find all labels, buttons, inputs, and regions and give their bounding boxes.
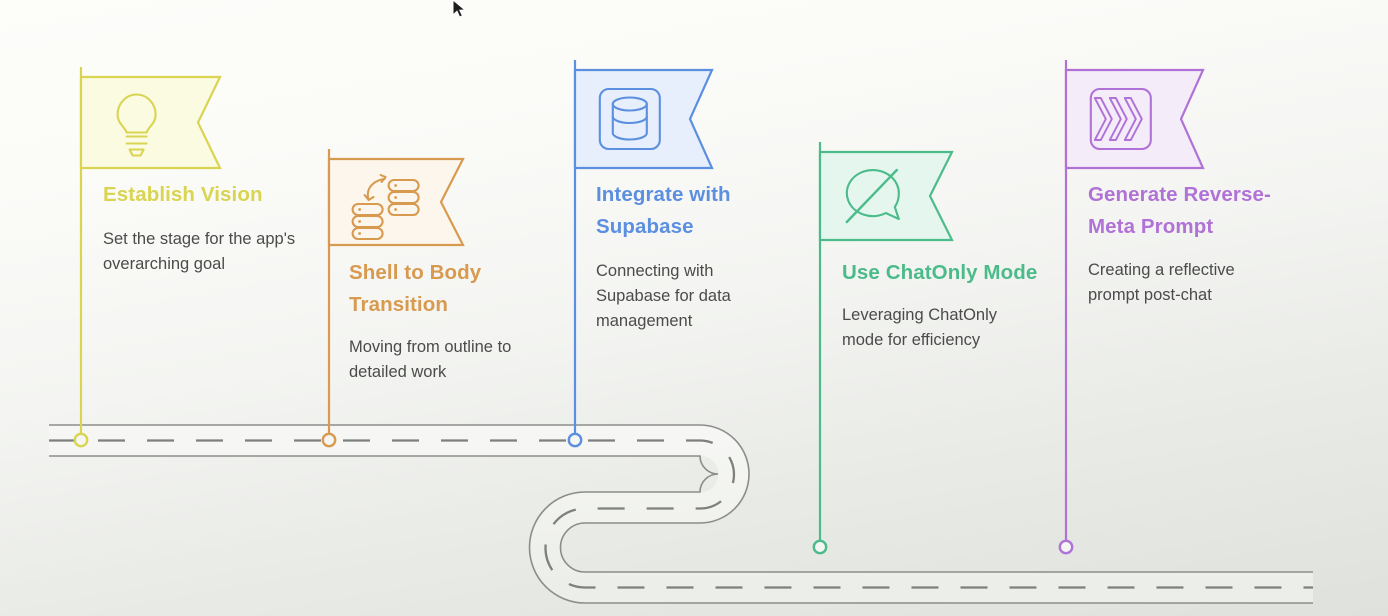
milestone-pole-use-chatonly-mode	[814, 142, 826, 553]
milestone-title: Integrate with Supabase	[596, 179, 776, 243]
milestone-description: Connecting with Supabase for data manage…	[596, 259, 776, 334]
milestone-marker-establish-vision[interactable]	[75, 434, 87, 446]
milestone-pole-establish-vision	[75, 67, 87, 446]
milestone-pole-generate-reverse-meta-prompt	[1060, 60, 1072, 553]
milestone-text-establish-vision: Establish Vision Set the stage for the a…	[103, 179, 298, 277]
milestone-text-integrate-with-supabase: Integrate with Supabase Connecting with …	[596, 179, 776, 334]
milestone-description: Moving from outline to detailed work	[349, 335, 545, 385]
milestone-marker-integrate-with-supabase[interactable]	[569, 434, 581, 446]
data-migration-icon	[353, 175, 419, 239]
milestone-pole-integrate-with-supabase	[569, 60, 581, 446]
roadmap-diagram: Establish Vision Set the stage for the a…	[0, 0, 1388, 616]
triple-chevron-icon	[1091, 89, 1151, 149]
lightbulb-icon	[118, 95, 156, 156]
milestone-marker-generate-reverse-meta-prompt[interactable]	[1060, 541, 1072, 553]
milestone-flag-shell-to-body-transition[interactable]	[329, 159, 463, 245]
milestone-pole-shell-to-body-transition	[323, 149, 335, 446]
mouse-pointer-icon	[451, 0, 469, 22]
milestone-flag-generate-reverse-meta-prompt[interactable]	[1066, 70, 1203, 168]
milestone-flag-integrate-with-supabase[interactable]	[575, 70, 712, 168]
milestone-description: Creating a reflective prompt post-chat	[1088, 258, 1288, 308]
milestone-flag-establish-vision[interactable]	[81, 77, 220, 168]
milestone-title: Establish Vision	[103, 179, 298, 211]
milestone-title: Generate Reverse-Meta Prompt	[1088, 179, 1288, 243]
milestone-description: Leveraging ChatOnly mode for efficiency	[842, 303, 1042, 353]
milestone-title: Use ChatOnly Mode	[842, 257, 1042, 289]
milestone-flag-use-chatonly-mode[interactable]	[820, 152, 952, 240]
milestone-text-use-chatonly-mode: Use ChatOnly Mode Leveraging ChatOnly mo…	[842, 257, 1042, 353]
milestone-text-generate-reverse-meta-prompt: Generate Reverse-Meta Prompt Creating a …	[1088, 179, 1288, 308]
milestone-marker-use-chatonly-mode[interactable]	[814, 541, 826, 553]
milestone-text-shell-to-body-transition: Shell to Body Transition Moving from out…	[349, 257, 545, 385]
database-icon	[600, 89, 660, 149]
milestone-description: Set the stage for the app's overarching …	[103, 227, 298, 277]
milestone-marker-shell-to-body-transition[interactable]	[323, 434, 335, 446]
milestone-title: Shell to Body Transition	[349, 257, 545, 321]
chat-bubble-slash-icon	[847, 170, 899, 222]
